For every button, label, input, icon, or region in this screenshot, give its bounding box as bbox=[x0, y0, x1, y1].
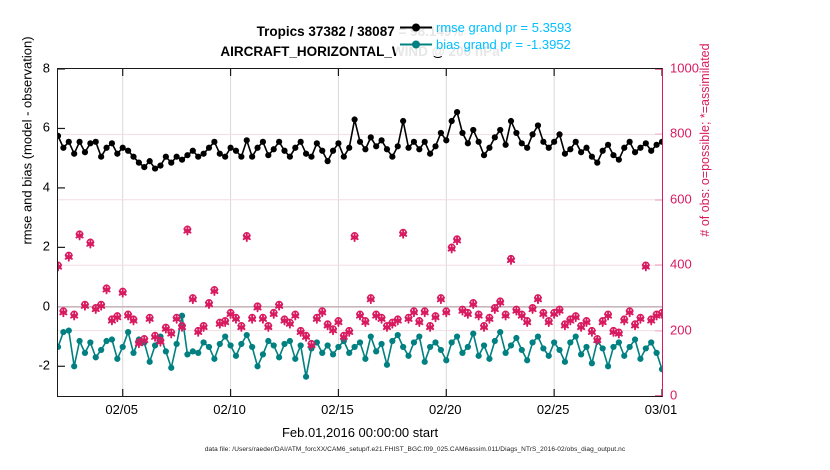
legend-label-rmse: rmse grand pr = 5.3593 bbox=[436, 20, 572, 35]
plot-figure: Tropics 37382 / 38087 = 98.149% AIRCRAFT… bbox=[0, 0, 830, 470]
x-tick-02-15: 02/15 bbox=[302, 402, 372, 417]
series-possible-obs-o- bbox=[58, 226, 662, 346]
series-rmse bbox=[58, 109, 662, 172]
x-tick-03-01: 03/01 bbox=[626, 402, 696, 417]
plot-canvas bbox=[58, 69, 662, 396]
legend-label-bias: bias grand pr = -1.3952 bbox=[436, 37, 571, 52]
plot-area bbox=[57, 68, 663, 397]
x-axis-label: Feb.01,2016 00:00:00 start bbox=[57, 425, 663, 440]
y-axis-left-label: rmse and bias (model - observation) bbox=[20, 0, 35, 306]
y-tick-right-200: 200 bbox=[670, 322, 722, 337]
y-tick-right-0: 0 bbox=[670, 388, 722, 403]
y-tick-right-400: 400 bbox=[670, 257, 722, 272]
x-tick-02-25: 02/25 bbox=[518, 402, 588, 417]
y-tick-left--2: -2 bbox=[0, 358, 50, 373]
legend-item-rmse[interactable]: rmse grand pr = 5.3593 bbox=[399, 19, 602, 36]
legend-marker-rmse-icon bbox=[399, 21, 433, 34]
y-tick-left-8: 8 bbox=[0, 61, 50, 76]
x-tick-02-10: 02/10 bbox=[195, 402, 265, 417]
legend-marker-bias-icon bbox=[399, 38, 433, 51]
y-tick-right-800: 800 bbox=[670, 126, 722, 141]
y-tick-right-1000: 1000 bbox=[670, 61, 722, 76]
legend: rmse grand pr = 5.3593 bias grand pr = -… bbox=[396, 16, 605, 56]
y-tick-left-4: 4 bbox=[0, 179, 50, 194]
y-tick-right-600: 600 bbox=[670, 191, 722, 206]
y-tick-left-6: 6 bbox=[0, 120, 50, 135]
legend-item-bias[interactable]: bias grand pr = -1.3952 bbox=[399, 36, 602, 53]
x-tick-02-20: 02/20 bbox=[410, 402, 480, 417]
x-tick-02-05: 02/05 bbox=[87, 402, 157, 417]
data-file-note: data file: /Users/raeder/DAI/ATM_forcXX/… bbox=[0, 446, 830, 453]
y-tick-left-2: 2 bbox=[0, 239, 50, 254]
y-tick-left-0: 0 bbox=[0, 298, 50, 313]
